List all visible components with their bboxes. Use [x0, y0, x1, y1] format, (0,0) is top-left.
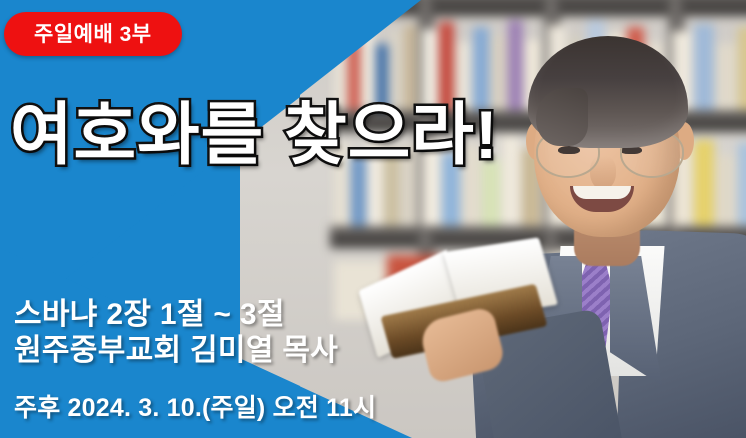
church-and-pastor: 원주중부교회 김미열 목사 — [14, 333, 376, 370]
service-details: 스바냐 2장 1절 ~ 3절 원주중부교회 김미열 목사 주후 2024. 3.… — [14, 297, 376, 424]
worship-service-banner: 주일예배 3부 여호와를 찾으라! 스바냐 2장 1절 ~ 3절 원주중부교회 … — [0, 0, 746, 438]
service-datetime: 주후 2024. 3. 10.(주일) 오전 11시 — [14, 388, 376, 424]
sermon-title: 여호와를 찾으라! — [10, 79, 498, 178]
hair — [528, 36, 688, 148]
service-badge: 주일예배 3부 — [4, 12, 182, 56]
scripture-reference: 스바냐 2장 1절 ~ 3절 — [14, 297, 376, 334]
pastor-portrait — [478, 18, 746, 438]
